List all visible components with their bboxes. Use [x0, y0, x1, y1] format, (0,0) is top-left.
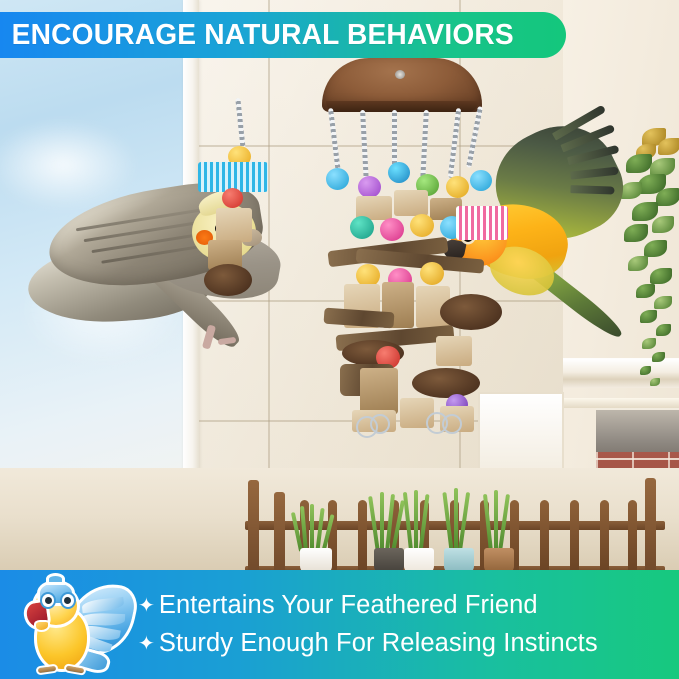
feature-bullet-1: ✦ Entertains Your Feathered Friend	[138, 591, 671, 620]
hanging-chain	[360, 110, 369, 184]
railing-post	[248, 480, 259, 576]
wooden-bead	[388, 162, 410, 183]
wooden-bead	[326, 168, 349, 190]
star-bullet-icon: ✦	[138, 634, 155, 654]
hanging-chain	[448, 108, 461, 178]
railing-baluster	[600, 500, 609, 574]
railing-baluster	[358, 500, 367, 574]
plastic-tube	[456, 206, 508, 240]
product-banner-image: ENCOURAGE NATURAL BEHAVIORS	[0, 0, 679, 679]
star-bullet-icon: ✦	[138, 596, 155, 616]
railing-baluster	[540, 500, 549, 574]
hanging-chain	[328, 108, 341, 174]
tile-grout-line	[268, 0, 270, 470]
mascot-crest	[46, 573, 65, 585]
railing-baluster	[628, 500, 637, 574]
wooden-bead	[446, 176, 469, 198]
parrot-mascot-icon	[10, 572, 138, 677]
wood-block	[360, 368, 398, 414]
wooden-bead	[350, 216, 374, 239]
feature-bullet-list: ✦ Entertains Your Feathered Friend ✦ Stu…	[138, 591, 679, 658]
hanging-chain	[466, 106, 483, 168]
wood-block	[394, 190, 428, 216]
feature-bullet-1-label: Entertains Your Feathered Friend	[159, 591, 538, 620]
feature-bullet-2: ✦ Sturdy Enough For Releasing Instincts	[138, 629, 671, 658]
metal-ring	[370, 414, 390, 434]
wooden-bead	[380, 218, 404, 241]
mascot-foot	[35, 664, 58, 676]
mascot-pupil	[45, 597, 52, 604]
railing-post	[274, 492, 285, 576]
coconut-knot	[395, 70, 405, 79]
wooden-bead	[420, 262, 444, 285]
wood-block	[436, 336, 472, 366]
wooden-bead	[358, 176, 381, 198]
coconut-shell-top	[322, 58, 482, 112]
railing-post	[645, 478, 656, 576]
hanging-ivy-plant	[612, 128, 679, 418]
wooden-bead	[470, 170, 492, 191]
headline-text: ENCOURAGE NATURAL BEHAVIORS	[0, 19, 514, 52]
top-headline-banner: ENCOURAGE NATURAL BEHAVIORS	[0, 12, 566, 58]
mascot-pupil	[64, 597, 71, 604]
feature-bullet-2-label: Sturdy Enough For Releasing Instincts	[159, 629, 598, 658]
railing-baluster	[570, 500, 579, 574]
coconut-slice	[412, 368, 480, 398]
bird-chew-toy	[300, 58, 500, 418]
cloud	[0, 120, 138, 210]
hanging-chain	[392, 110, 397, 168]
wooden-bead	[410, 214, 434, 237]
bottom-feature-banner: ✦ Entertains Your Feathered Friend ✦ Stu…	[0, 570, 679, 679]
metal-ring	[442, 414, 462, 434]
hanging-chain	[420, 110, 429, 182]
